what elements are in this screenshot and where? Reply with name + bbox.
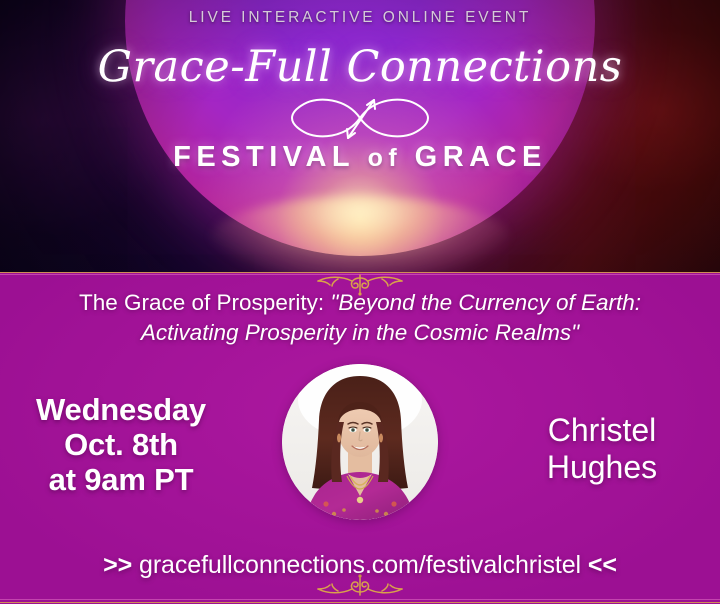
- url-address[interactable]: gracefullconnections.com/festivalchriste…: [139, 551, 581, 579]
- event-promo-poster: LIVE INTERACTIVE ONLINE EVENT Grace-Full…: [0, 0, 720, 604]
- registration-url[interactable]: >> gracefullconnections.com/festivalchri…: [0, 551, 720, 580]
- headline-quoted-line-one: "Beyond the Currency of Earth:: [330, 290, 641, 315]
- event-date-block: Wednesday Oct. 8th at 9am PT: [6, 392, 236, 497]
- divider-gold-bottom: [0, 602, 720, 603]
- headline-lead: The Grace of Prosperity:: [79, 290, 330, 315]
- hero-section: LIVE INTERACTIVE ONLINE EVENT Grace-Full…: [0, 0, 720, 272]
- chevron-left-decor: >>: [103, 551, 132, 579]
- festival-word-two: GRACE: [415, 141, 547, 173]
- festival-word-one: FESTIVAL: [173, 141, 355, 173]
- headline-quoted-line-two: Activating Prosperity in the Cosmic Real…: [141, 320, 579, 345]
- speaker-first-name: Christel: [492, 412, 712, 449]
- event-date: Oct. 8th: [6, 427, 236, 462]
- festival-connector: of: [355, 144, 415, 172]
- speaker-portrait: [282, 364, 438, 520]
- event-kicker: LIVE INTERACTIVE ONLINE EVENT: [0, 9, 720, 27]
- infinity-arrow-icon: [278, 92, 442, 144]
- session-headline: The Grace of Prosperity: "Beyond the Cur…: [14, 288, 706, 348]
- brand-script-logo: Grace-Full Connections: [0, 42, 720, 92]
- speaker-name-block: Christel Hughes: [492, 412, 712, 486]
- speaker-last-name: Hughes: [492, 449, 712, 486]
- festival-title: FESTIVAL of GRACE: [0, 141, 720, 174]
- event-day: Wednesday: [6, 392, 236, 427]
- chevron-right-decor: <<: [588, 551, 617, 579]
- divider-pink-bottom: [0, 599, 720, 600]
- event-time: at 9am PT: [6, 462, 236, 497]
